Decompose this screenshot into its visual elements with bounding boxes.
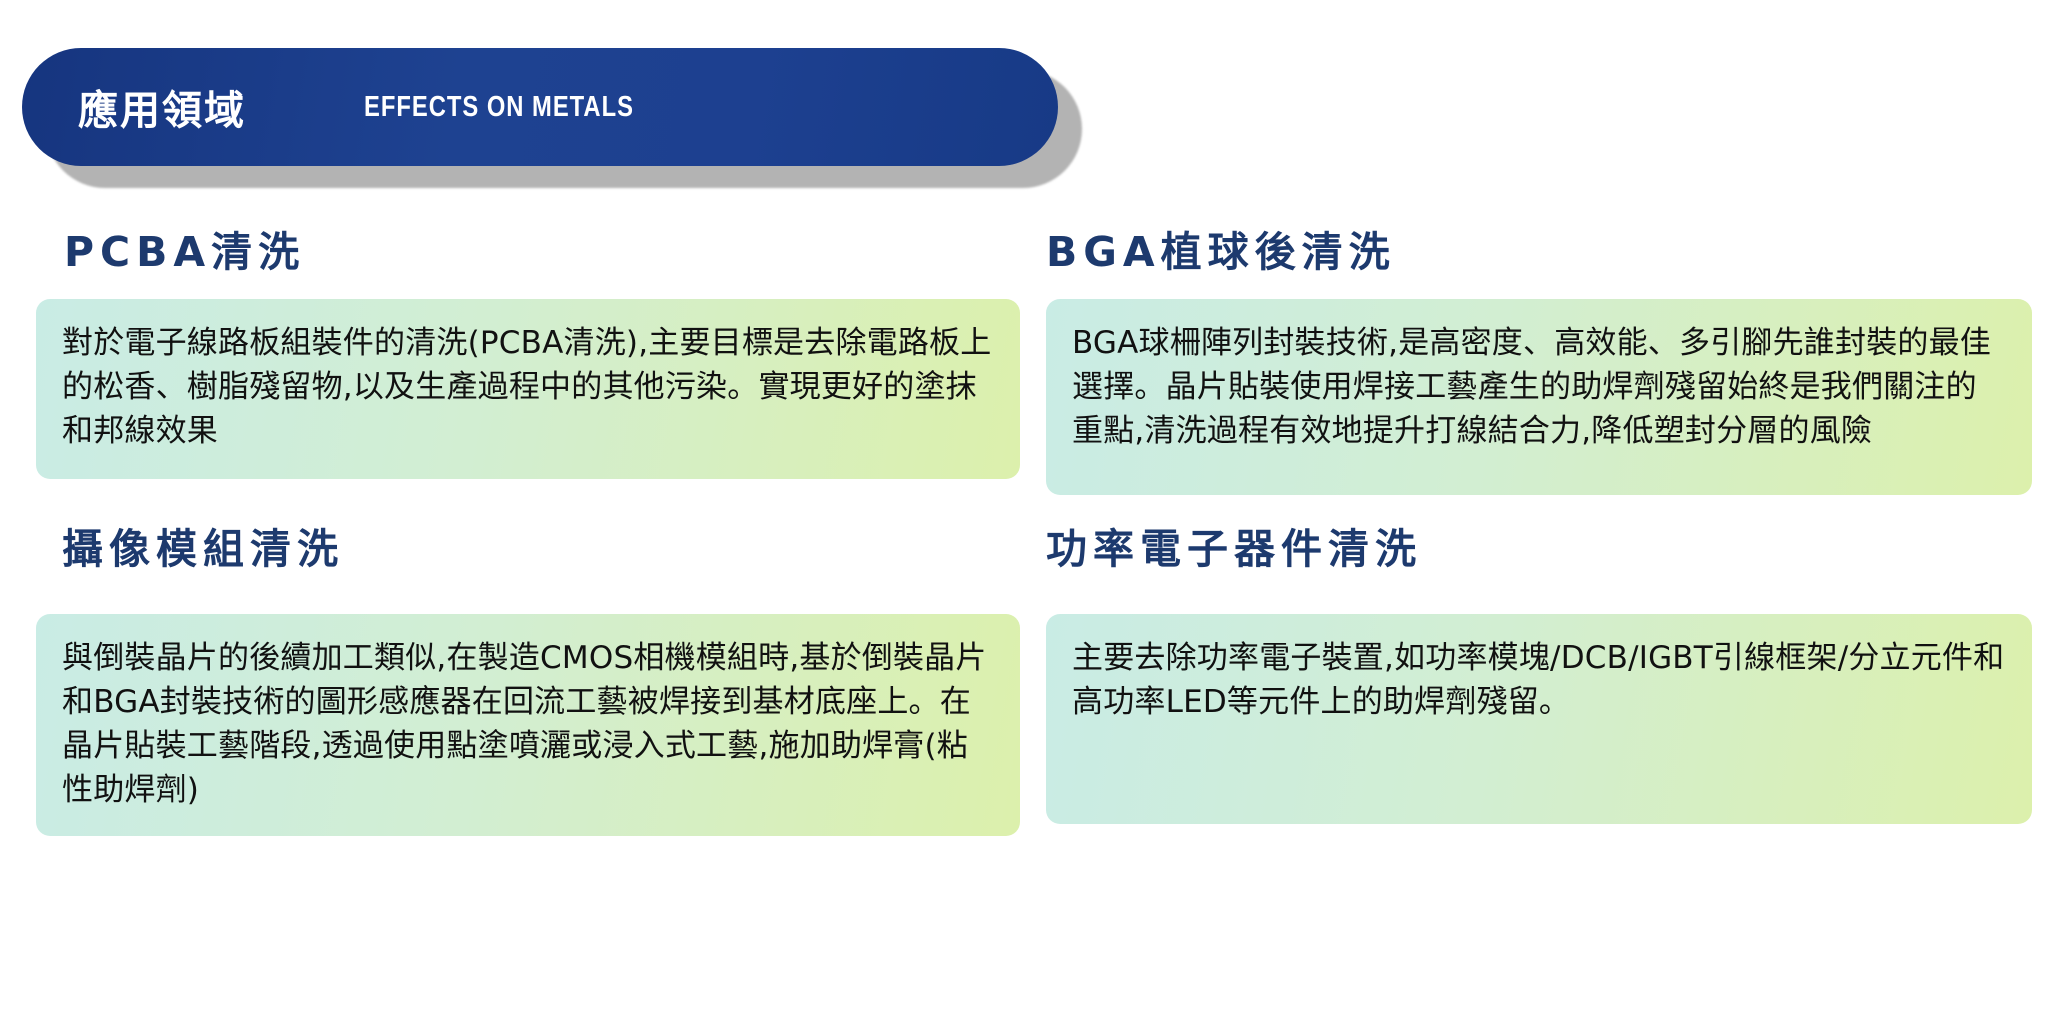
section-card-pcba: 對於電子線路板組裝件的清洗(PCBA清洗),主要目標是去除電路板上的松香、樹脂殘… — [36, 299, 1020, 479]
poster-page: 應用領域 EFFECTS ON METALS PCBA清洗 對於電子線路板組裝件… — [0, 0, 2048, 1024]
section-body-bga: BGA球柵陣列封裝技術,是高密度、高效能、多引腳先誰封裝的最佳選擇。晶片貼裝使用… — [1072, 321, 2006, 453]
section-pcba: PCBA清洗 對於電子線路板組裝件的清洗(PCBA清洗),主要目標是去除電路板上… — [0, 232, 1024, 495]
section-card-power: 主要去除功率電子裝置,如功率模塊/DCB/IGBT引線框架/分立元件和高功率LE… — [1046, 614, 2032, 824]
section-body-pcba: 對於電子線路板組裝件的清洗(PCBA清洗),主要目標是去除電路板上的松香、樹脂殘… — [62, 321, 994, 453]
sections-row-top: PCBA清洗 對於電子線路板組裝件的清洗(PCBA清洗),主要目標是去除電路板上… — [0, 232, 2048, 495]
banner-title-zh: 應用領域 — [78, 78, 246, 136]
section-title-bga: BGA植球後清洗 — [1046, 232, 2030, 273]
header-banner: 應用領域 EFFECTS ON METALS — [22, 48, 1082, 188]
banner-title-en: EFFECTS ON METALS — [364, 91, 634, 124]
banner-pill: 應用領域 EFFECTS ON METALS — [22, 48, 1058, 166]
section-power: 功率電子器件清洗 主要去除功率電子裝置,如功率模塊/DCB/IGBT引線框架/分… — [1024, 529, 2048, 836]
section-body-camera: 與倒裝晶片的後續加工類似,在製造CMOS相機模組時,基於倒裝晶片和BGA封裝技術… — [62, 636, 994, 812]
section-card-bga: BGA球柵陣列封裝技術,是高密度、高效能、多引腳先誰封裝的最佳選擇。晶片貼裝使用… — [1046, 299, 2032, 495]
section-title-camera: 攝像模組清洗 — [62, 529, 996, 570]
sections-grid: PCBA清洗 對於電子線路板組裝件的清洗(PCBA清洗),主要目標是去除電路板上… — [0, 232, 2048, 836]
sections-row-bottom: 攝像模組清洗 與倒裝晶片的後續加工類似,在製造CMOS相機模組時,基於倒裝晶片和… — [0, 529, 2048, 836]
section-title-power: 功率電子器件清洗 — [1046, 529, 2030, 570]
section-body-power: 主要去除功率電子裝置,如功率模塊/DCB/IGBT引線框架/分立元件和高功率LE… — [1072, 636, 2006, 724]
section-camera: 攝像模組清洗 與倒裝晶片的後續加工類似,在製造CMOS相機模組時,基於倒裝晶片和… — [0, 529, 1024, 836]
section-bga: BGA植球後清洗 BGA球柵陣列封裝技術,是高密度、高效能、多引腳先誰封裝的最佳… — [1024, 232, 2048, 495]
section-card-camera: 與倒裝晶片的後續加工類似,在製造CMOS相機模組時,基於倒裝晶片和BGA封裝技術… — [36, 614, 1020, 836]
section-title-pcba: PCBA清洗 — [64, 232, 996, 273]
